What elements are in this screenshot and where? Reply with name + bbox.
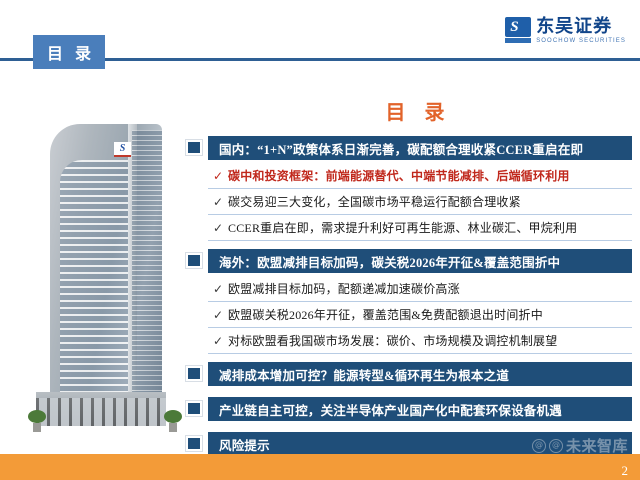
toc-spacer bbox=[186, 241, 632, 249]
toc-spacer bbox=[186, 424, 632, 432]
checkmark-icon: ✓ bbox=[208, 308, 228, 322]
chapter-bar[interactable]: 减排成本增加可控？能源转型&循环再生为根本之道 bbox=[208, 362, 632, 386]
checkmark-icon: ✓ bbox=[208, 221, 228, 235]
table-of-contents: 国内：“1+N”政策体系日渐完善，碳配额合理收紧CCER重启在即✓碳中和投资框架… bbox=[186, 136, 632, 467]
brand-name-en: SOOCHOW SECURITIES bbox=[536, 38, 626, 44]
toc-chapter[interactable]: 减排成本增加可控？能源转型&循环再生为根本之道 bbox=[186, 362, 632, 386]
subitem-label: 碳交易迎三大变化，全国碳市场平稳运行配额合理收紧 bbox=[228, 193, 521, 210]
tower-side-facade bbox=[132, 130, 162, 424]
toc-chapter[interactable]: 海外：欧盟减排目标加码，碳关税2026年开征&覆盖范围折中 bbox=[186, 249, 632, 273]
subitem-label: 碳中和投资框架：前端能源替代、中端节能减排、后端循环利用 bbox=[228, 167, 570, 184]
chapter-bar[interactable]: 国内：“1+N”政策体系日渐完善，碳配额合理收紧CCER重启在即 bbox=[208, 136, 632, 160]
toc-subitem[interactable]: ✓对标欧盟看我国碳市场发展：碳价、市场规模及调控机制展望 bbox=[208, 328, 632, 354]
chapter-bar[interactable]: 海外：欧盟减排目标加码，碳关税2026年开征&覆盖范围折中 bbox=[208, 249, 632, 273]
chapter-square-icon bbox=[186, 253, 202, 268]
toc-subitem[interactable]: ✓碳交易迎三大变化，全国碳市场平稳运行配额合理收紧 bbox=[208, 189, 632, 215]
toc-subitem[interactable]: ✓欧盟碳关税2026年开征，覆盖范围&免费配额退出时间折中 bbox=[208, 302, 632, 328]
chapter-square-icon bbox=[186, 140, 202, 155]
subitem-label: CCER重启在即，需求提升利好可再生能源、林业碳汇、甲烷利用 bbox=[228, 219, 577, 236]
tower-body: S bbox=[50, 124, 162, 424]
chapter-label: 风险提示 bbox=[208, 435, 270, 454]
logo-glyph: S bbox=[510, 19, 526, 35]
header-tab[interactable]: 目 录 bbox=[33, 35, 105, 69]
chapter-label: 产业链自主可控，关注半导体产业国产化中配套环保设备机遇 bbox=[208, 400, 562, 419]
brand-text: 东吴证券 SOOCHOW SECURITIES bbox=[536, 17, 626, 44]
header-tab-label: 目 录 bbox=[43, 40, 95, 64]
subitem-label: 欧盟碳关税2026年开征，覆盖范围&免费配额退出时间折中 bbox=[228, 306, 543, 323]
headquarters-photo: S bbox=[22, 110, 204, 440]
toc-subitem[interactable]: ✓CCER重启在即，需求提升利好可再生能源、林业碳汇、甲烷利用 bbox=[208, 215, 632, 241]
toc-subitem[interactable]: ✓欧盟减排目标加码，配额递减加速碳价高涨 bbox=[208, 276, 632, 302]
toc-chapter[interactable]: 产业链自主可控，关注半导体产业国产化中配套环保设备机遇 bbox=[186, 397, 632, 421]
chapter-square-icon bbox=[186, 366, 202, 381]
toc-subitem[interactable]: ✓碳中和投资框架：前端能源替代、中端节能减排、后端循环利用 bbox=[208, 163, 632, 189]
slide-header: 目 录 S 东吴证券 SOOCHOW SECURITIES bbox=[0, 0, 640, 86]
soochow-logo-icon: S bbox=[505, 17, 531, 43]
chapter-label: 海外：欧盟减排目标加码，碳关税2026年开征&覆盖范围折中 bbox=[208, 252, 560, 271]
chapter-square-icon bbox=[186, 401, 202, 416]
toc-spacer bbox=[186, 354, 632, 362]
checkmark-icon: ✓ bbox=[208, 282, 228, 296]
chapter-bar[interactable]: 产业链自主可控，关注半导体产业国产化中配套环保设备机遇 bbox=[208, 397, 632, 421]
checkmark-icon: ✓ bbox=[208, 334, 228, 348]
subitem-label: 对标欧盟看我国碳市场发展：碳价、市场规模及调控机制展望 bbox=[228, 332, 557, 349]
toc-spacer bbox=[186, 389, 632, 397]
page-title: 目 录 bbox=[205, 96, 625, 125]
subitem-label: 欧盟减排目标加码，配额递减加速碳价高涨 bbox=[228, 280, 460, 297]
checkmark-icon: ✓ bbox=[208, 169, 228, 183]
toc-chapter[interactable]: 国内：“1+N”政策体系日渐完善，碳配额合理收紧CCER重启在即 bbox=[186, 136, 632, 160]
brand-name-cn: 东吴证券 bbox=[536, 17, 626, 35]
tower-podium bbox=[36, 392, 166, 426]
page-number: 2 bbox=[622, 463, 629, 479]
toc-chapter[interactable]: 风险提示 bbox=[186, 432, 632, 456]
chapter-label: 国内：“1+N”政策体系日渐完善，碳配额合理收紧CCER重启在即 bbox=[208, 139, 583, 158]
checkmark-icon: ✓ bbox=[208, 195, 228, 209]
footer-bar bbox=[0, 454, 640, 480]
tower-logo-icon: S bbox=[114, 142, 131, 157]
chapter-bar[interactable]: 风险提示 bbox=[208, 432, 632, 456]
chapter-label: 减排成本增加可控？能源转型&循环再生为根本之道 bbox=[208, 365, 509, 384]
brand-logo: S 东吴证券 SOOCHOW SECURITIES bbox=[505, 17, 626, 44]
tower-glass-facade bbox=[60, 160, 130, 408]
shrub-icon-right bbox=[164, 410, 182, 432]
chapter-square-icon bbox=[186, 436, 202, 451]
shrub-icon-left bbox=[28, 410, 46, 432]
